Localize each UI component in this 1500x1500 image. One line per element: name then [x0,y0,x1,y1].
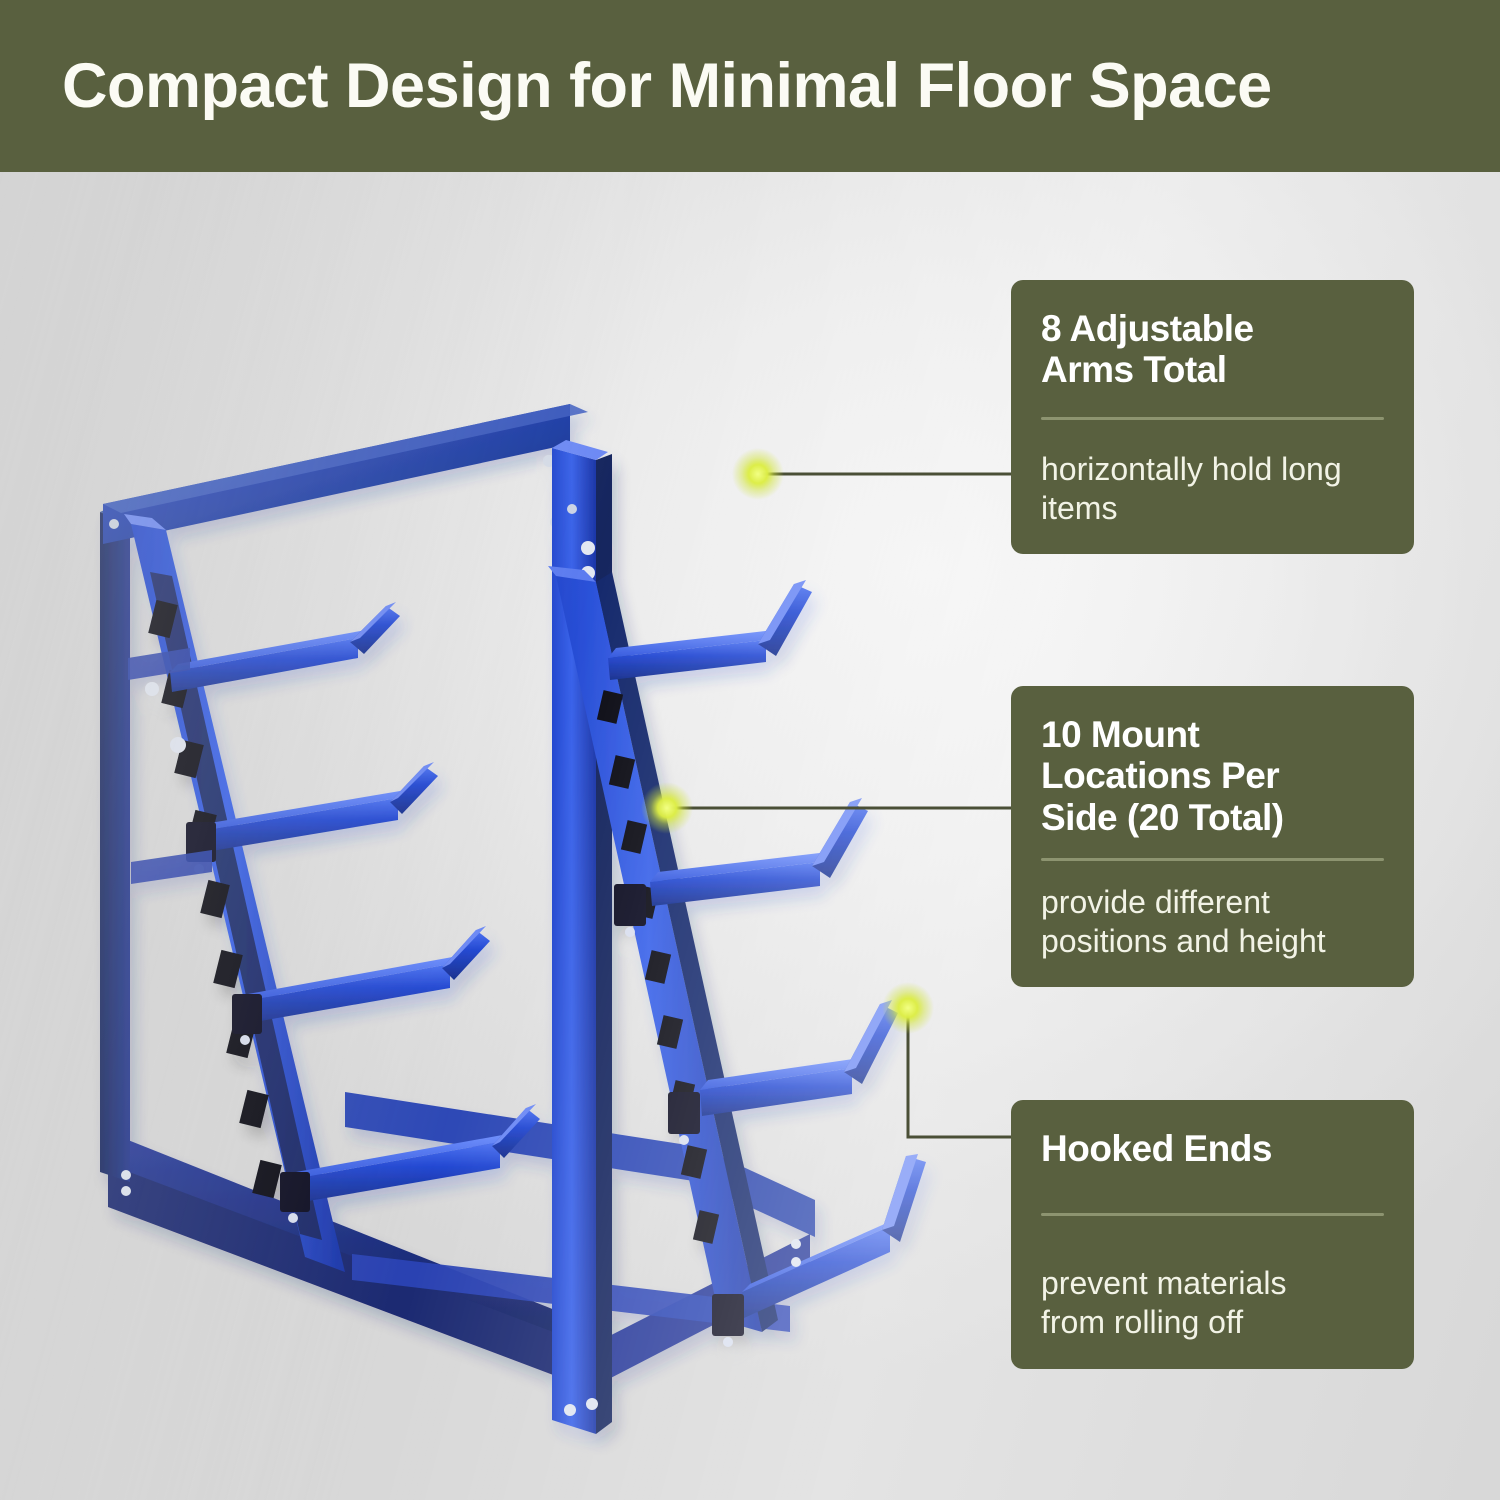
callout-title-mount-locations: 10 Mount Locations Per Side (20 Total) [1041,714,1384,838]
callout-divider [1041,858,1384,861]
callout-body-mount-locations: provide different positions and height [1041,883,1384,961]
callout-divider [1041,417,1384,420]
infographic-canvas: Compact Design for Minimal Floor Space [0,0,1500,1500]
header-banner: Compact Design for Minimal Floor Space [0,0,1500,172]
callout-title-hooked-ends: Hooked Ends [1041,1128,1384,1169]
callout-card-adjustable-arms: 8 Adjustable Arms Total horizontally hol… [1011,280,1414,554]
callout-card-mount-locations: 10 Mount Locations Per Side (20 Total) p… [1011,686,1414,987]
page-title: Compact Design for Minimal Floor Space [0,55,1272,118]
callout-card-hooked-ends: Hooked Ends prevent materials from rolli… [1011,1100,1414,1369]
callout-body-hooked-ends: prevent materials from rolling off [1041,1264,1384,1342]
callout-divider [1041,1213,1384,1216]
callout-body-adjustable-arms: horizontally hold long items [1041,450,1384,528]
callout-title-adjustable-arms: 8 Adjustable Arms Total [1041,308,1384,391]
